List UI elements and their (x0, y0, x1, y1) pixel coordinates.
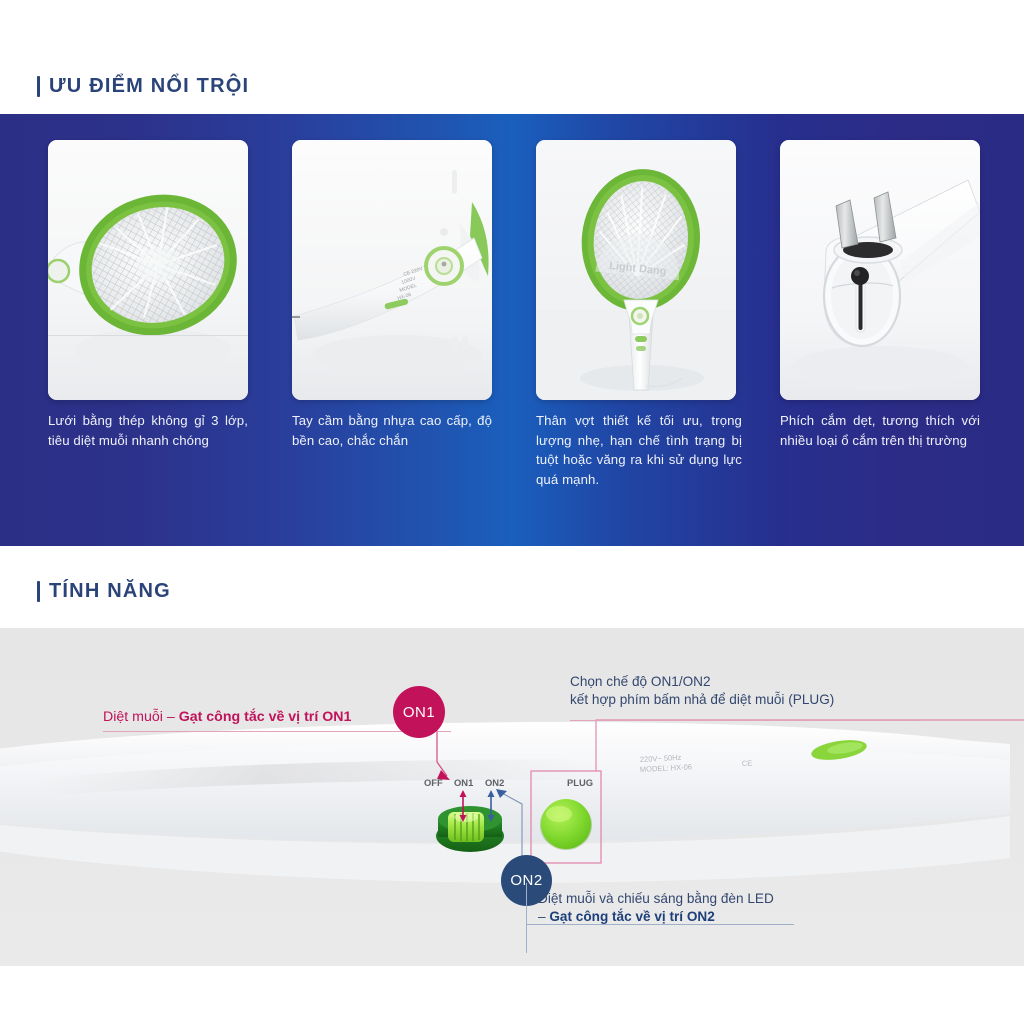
svg-text:ON1: ON1 (454, 777, 473, 788)
badge-on1: ON1 (393, 686, 445, 738)
benefits-band: Lưới bằng thép không gỉ 3 lớp, tiêu diệt… (0, 114, 1024, 546)
benefit-photo-card-4 (780, 140, 980, 400)
benefit-photo-card-1 (48, 140, 248, 400)
racket-full-body-photo: Light Dang (536, 140, 736, 400)
benefits-section-heading: ƯU ĐIỂM NỔI TRỘI (37, 75, 249, 98)
callout-on1-text: Diệt muỗi – Gạt công tắc về vị trí ON1 (103, 708, 413, 727)
callout-plug-underline (570, 720, 920, 721)
product-detail-page: ƯU ĐIỂM NỔI TRỘI (0, 0, 1024, 1024)
heading-accent-bar (37, 581, 40, 602)
callout-on2-line2-emphasis: Gạt công tắc về vị trí ON2 (549, 909, 714, 924)
callout-plug-text: Chọn chế độ ON1/ON2 kết hợp phím bấm nhả… (570, 673, 970, 710)
features-band: 220V~ 50Hz MODEL: HX-06 CE OFF ON1 ON2 (0, 628, 1024, 966)
benefit-photo-card-2: CE 220V 1000V MODEL HX-06 (292, 140, 492, 400)
callout-plug-line1: Chọn chế độ ON1/ON2 (570, 673, 970, 691)
benefits-heading-label: ƯU ĐIỂM NỔI TRỘI (49, 75, 249, 98)
racket-mesh-closeup-photo (48, 140, 248, 400)
heading-accent-bar (37, 76, 40, 97)
svg-text:PLUG: PLUG (567, 777, 593, 788)
svg-text:CE: CE (742, 758, 753, 768)
callout-on2-text: Diệt muỗi và chiếu sáng bằng đèn LED – G… (538, 890, 868, 927)
features-heading-label: TÍNH NĂNG (49, 580, 171, 603)
benefit-caption-3: Thân vợt thiết kế tối ưu, trọng lượng nh… (536, 411, 742, 489)
benefit-caption-2: Tay cầm bằng nhựa cao cấp, độ bền cao, c… (292, 411, 492, 450)
callout-on1-prefix: Diệt muỗi – (103, 709, 179, 725)
benefit-photo-card-3: Light Dang (536, 140, 736, 400)
callout-plug-line2: kết hợp phím bấm nhả để diệt muỗi (PLUG) (570, 691, 970, 709)
callout-on2-line1: Diệt muỗi và chiếu sáng bằng đèn LED (538, 890, 868, 908)
racket-handle-closeup-photo: CE 220V 1000V MODEL HX-06 (292, 140, 492, 400)
features-section-heading: TÍNH NĂNG (37, 580, 171, 603)
callout-on2-line2-prefix: – (538, 909, 549, 924)
callout-on2-line2: – Gạt công tắc về vị trí ON2 (538, 908, 868, 926)
benefit-caption-1: Lưới bằng thép không gỉ 3 lớp, tiêu diệt… (48, 411, 248, 450)
callout-on2-connector (526, 883, 527, 953)
callout-on1-emphasis: Gạt công tắc về vị trí ON1 (179, 709, 352, 725)
svg-text:ON2: ON2 (485, 777, 504, 788)
flat-plug-closeup-photo (780, 140, 980, 400)
callout-on1-underline (103, 731, 451, 732)
benefit-caption-4: Phích cắm dẹt, tương thích với nhiều loạ… (780, 411, 980, 450)
